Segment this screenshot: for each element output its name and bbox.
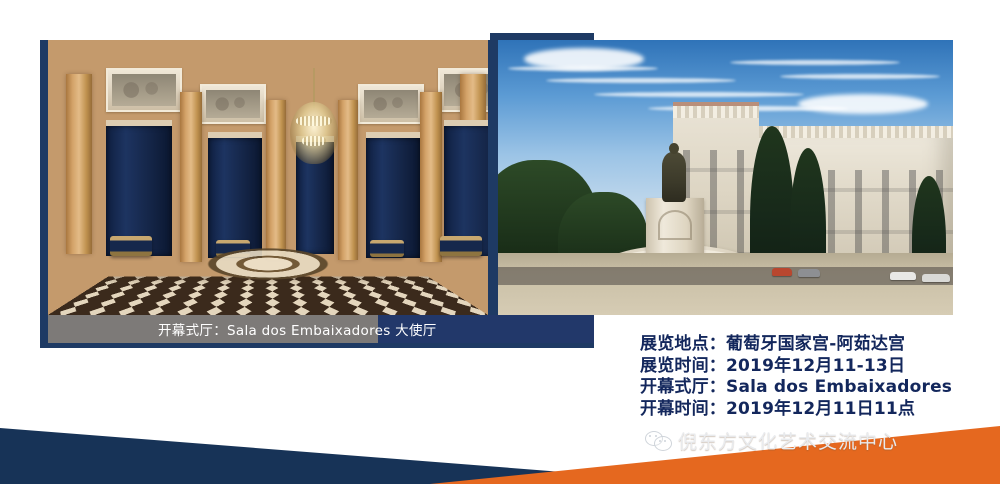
cloud	[524, 48, 644, 70]
footer-brand-name: 倪东方文化艺术交流中心	[678, 427, 898, 454]
wechat-dot	[659, 440, 661, 442]
wall-relief	[200, 84, 266, 124]
wall-relief	[106, 68, 182, 112]
wall-column	[420, 92, 442, 262]
parked-car	[772, 268, 792, 276]
wechat-bubble-front	[654, 436, 672, 451]
wechat-dot	[664, 440, 666, 442]
wechat-icon	[645, 430, 671, 452]
road	[498, 267, 953, 285]
hall-sofa	[370, 240, 404, 257]
chandelier-body	[290, 102, 338, 164]
monument-plinth	[646, 198, 704, 260]
parked-car	[798, 269, 820, 277]
floor-medallion	[203, 247, 333, 281]
chandelier	[286, 68, 342, 188]
parked-car	[890, 272, 916, 280]
info-line-opening: 开幕时间：2019年12月11日11点	[640, 399, 990, 421]
wall-column	[66, 74, 92, 254]
wechat-dot	[655, 435, 657, 437]
decorative-band-navy	[0, 400, 640, 484]
checkered-marble-floor	[48, 277, 488, 315]
info-line-dates: 展览时间：2019年12月11-13日	[640, 356, 990, 378]
left-photo-caption-bar: 开幕式厅：Sala dos Embaixadores 大使厅	[48, 315, 594, 343]
wall-column	[180, 92, 202, 262]
parked-car	[922, 274, 950, 282]
cloud-streak	[730, 60, 900, 65]
cloud-streak	[546, 78, 736, 83]
left-photo-caption-text: 开幕式厅：Sala dos Embaixadores 大使厅	[158, 319, 437, 339]
tower-balustrade	[673, 106, 759, 118]
interior-scene	[48, 40, 488, 315]
info-line-venue: 展览地点：葡萄牙国家宫-阿茹达宫	[640, 334, 990, 356]
photo-palace-interior	[48, 40, 488, 315]
cloud-streak	[780, 74, 940, 79]
slide-canvas: 开幕式厅：Sala dos Embaixadores 大使厅	[0, 0, 1000, 484]
wall-column	[266, 100, 286, 260]
photo-palace-exterior	[498, 40, 953, 315]
cloud	[798, 94, 928, 114]
wall-relief	[358, 84, 424, 124]
monument-statue	[662, 152, 686, 202]
hall-sofa	[440, 236, 482, 256]
info-line-hall: 开幕式厅：Sala dos Embaixadores	[640, 377, 990, 399]
hall-sofa	[110, 236, 152, 256]
exhibition-info-block: 展览地点：葡萄牙国家宫-阿茹达宫 展览时间：2019年12月11-13日 开幕式…	[640, 334, 990, 420]
cloud-streak	[594, 92, 804, 97]
footer-brand: 倪东方文化艺术交流中心	[645, 427, 898, 454]
